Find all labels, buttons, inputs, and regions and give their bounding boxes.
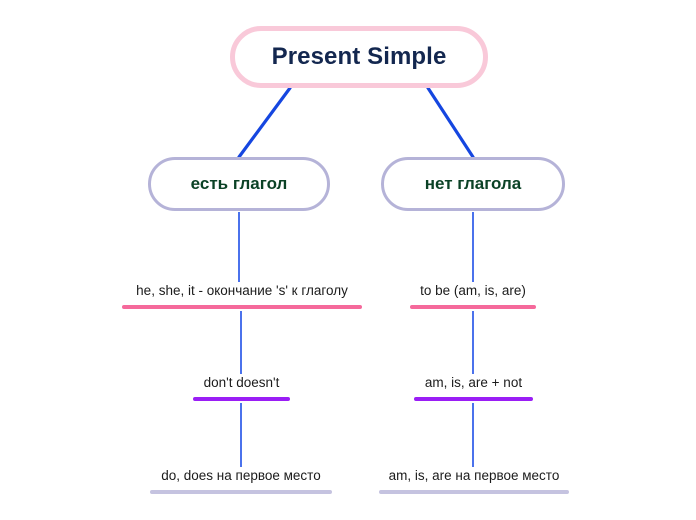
leaf-no-verb-1[interactable]: to be (am, is, are) bbox=[410, 282, 536, 309]
leaf-has-verb-1-label: he, she, it - окончание 's' к глаголу bbox=[136, 282, 348, 300]
leaf-has-verb-3-label: do, does на первое место bbox=[161, 467, 320, 485]
branch-node-has-verb[interactable]: есть глагол bbox=[148, 157, 330, 211]
leaf-has-verb-2[interactable]: don't doesn't bbox=[193, 374, 290, 401]
leaf-has-verb-1-underline bbox=[122, 305, 362, 309]
branch-node-no-verb-label: нет глагола bbox=[425, 174, 522, 194]
connector-root-to-left-branch bbox=[239, 88, 290, 157]
leaf-has-verb-3-underline bbox=[150, 490, 332, 494]
leaf-no-verb-2[interactable]: am, is, are + not bbox=[414, 374, 533, 401]
mindmap-canvas: Present Simple есть глагол нет глагола h… bbox=[0, 0, 696, 520]
branch-node-no-verb[interactable]: нет глагола bbox=[381, 157, 565, 211]
branch-node-has-verb-label: есть глагол bbox=[191, 174, 288, 194]
leaf-no-verb-2-label: am, is, are + not bbox=[425, 374, 522, 392]
leaf-has-verb-2-underline bbox=[193, 397, 290, 401]
connector-root-to-right-branch bbox=[428, 88, 473, 157]
leaf-no-verb-3-label: am, is, are на первое место bbox=[389, 467, 560, 485]
leaf-no-verb-3-underline bbox=[379, 490, 569, 494]
leaf-no-verb-1-label: to be (am, is, are) bbox=[420, 282, 526, 300]
leaf-has-verb-2-label: don't doesn't bbox=[204, 374, 280, 392]
leaf-no-verb-1-underline bbox=[410, 305, 536, 309]
leaf-has-verb-3[interactable]: do, does на первое место bbox=[150, 467, 332, 494]
leaf-has-verb-1[interactable]: he, she, it - окончание 's' к глаголу bbox=[122, 282, 362, 309]
root-node-label: Present Simple bbox=[272, 43, 447, 71]
leaf-no-verb-2-underline bbox=[414, 397, 533, 401]
root-node[interactable]: Present Simple bbox=[230, 26, 488, 88]
leaf-no-verb-3[interactable]: am, is, are на первое место bbox=[379, 467, 569, 494]
